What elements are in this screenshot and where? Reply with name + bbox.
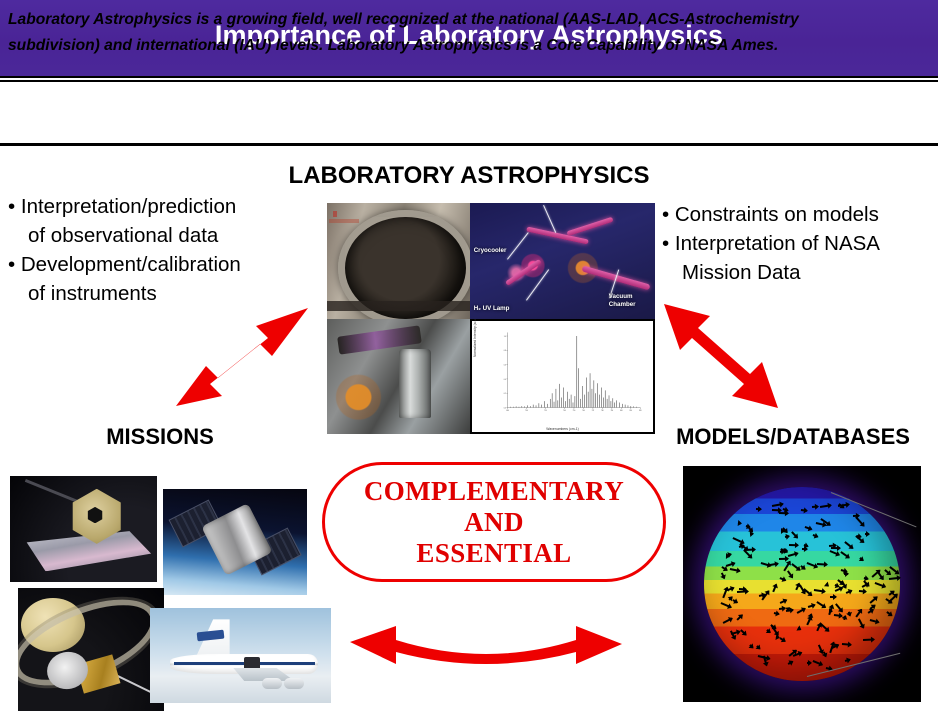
cryocooler-label: Cryocooler — [474, 247, 507, 255]
wind-vector-arrow — [788, 660, 794, 664]
wind-vector-arrow — [780, 637, 786, 642]
wind-vector-arrow — [772, 584, 776, 592]
complementary-essential-callout: COMPLEMENTARY AND ESSENTIAL — [322, 462, 666, 582]
wind-vector-arrow — [818, 644, 823, 653]
wind-vector-arrow — [889, 577, 900, 580]
wind-vector-arrow — [834, 614, 842, 616]
spectrum-chart: Normalized Intensity (a.u.) 0.00.20.40.6… — [470, 319, 655, 434]
wind-vector-arrow — [737, 614, 743, 620]
wind-vector-arrow — [750, 644, 754, 648]
svg-text:780: 780 — [601, 410, 604, 412]
wind-vector-arrow — [728, 587, 734, 591]
list-item: Development/calibration — [8, 250, 324, 279]
spectrum-y-axis-label: Normalized Intensity (a.u.) — [473, 319, 477, 357]
sofia-engine — [262, 678, 282, 688]
cassini-saturn-photo — [18, 588, 164, 711]
wind-vector-arrow — [807, 662, 811, 664]
arrow-lab-to-missions — [160, 296, 325, 416]
wind-vector-arrow — [804, 526, 811, 530]
models-databases-heading: MODELS/DATABASES — [648, 424, 938, 450]
spectrum-svg: 0.00.20.40.60.81.06807007207407507607707… — [501, 329, 642, 416]
wind-vector-arrow — [792, 563, 801, 570]
slide-root: Importance of Laboratory Astrophysics La… — [0, 0, 938, 711]
wind-vector-arrow — [801, 509, 807, 511]
laser-instrument-photo — [327, 319, 470, 434]
list-item: Mission Data — [662, 258, 938, 287]
wind-vector-arrow — [830, 596, 836, 598]
wind-vector-arrow — [782, 528, 787, 533]
svg-text:700: 700 — [525, 410, 528, 412]
wind-vector-arrow — [771, 509, 780, 511]
right-bullet-list: Constraints on models Interpretation of … — [662, 200, 938, 287]
wind-vector-arrow — [844, 573, 848, 575]
cryo-tube — [567, 217, 614, 237]
svg-text:800: 800 — [620, 410, 623, 412]
subtitle-line-2: subdivision) and international (IAU) lev… — [8, 33, 920, 59]
callout-line-1: COMPLEMENTARY — [364, 476, 624, 507]
svg-text:680: 680 — [506, 410, 509, 412]
wind-vector-arrow — [787, 570, 793, 578]
wind-vector-arrow — [792, 531, 798, 538]
svg-text:810: 810 — [630, 410, 633, 412]
wind-vector-arrow — [841, 551, 850, 558]
cryo-tube — [505, 259, 542, 286]
svg-text:0.8: 0.8 — [504, 350, 506, 352]
wind-vector-arrow — [756, 645, 760, 649]
wind-vector-arrow — [741, 630, 747, 636]
wind-vector-arrow — [756, 508, 761, 510]
list-item: Interpretation/prediction — [8, 192, 324, 221]
uv-lamp-label: H₂ UV Lamp — [474, 305, 510, 313]
wind-vector-arrow — [859, 590, 867, 592]
svg-text:760: 760 — [582, 410, 585, 412]
svg-text:750: 750 — [573, 410, 576, 412]
wind-vector-arrow — [853, 515, 859, 517]
wind-vector-arrow — [721, 566, 727, 571]
svg-text:0.0: 0.0 — [504, 407, 506, 409]
wind-vector-arrow — [726, 555, 729, 557]
wind-vector-arrow — [779, 558, 788, 560]
wind-vector-arrow — [812, 660, 822, 665]
svg-text:0.4: 0.4 — [504, 379, 506, 381]
wind-vector-arrow — [800, 565, 805, 569]
wind-vector-arrow — [846, 589, 852, 593]
wind-vector-arrow — [842, 643, 851, 645]
globe-temperature-map — [704, 487, 899, 681]
wind-vector-arrow — [782, 508, 788, 511]
svg-text:770: 770 — [592, 410, 595, 412]
jwst-sunshield — [16, 531, 151, 571]
vacuum-chamber-label: Vacuum Chamber — [609, 293, 636, 308]
wind-vector-arrow — [802, 548, 807, 550]
wind-vector-arrow — [812, 506, 818, 508]
wind-vector-arrow — [779, 577, 786, 581]
wind-vector-arrow — [785, 609, 792, 612]
cryo-lab-photo: Cryocooler H₂ UV Lamp Vacuum Chamber — [470, 203, 655, 319]
svg-text:820: 820 — [639, 410, 642, 412]
wind-vector-arrow — [783, 549, 787, 551]
svg-text:790: 790 — [611, 410, 614, 412]
list-item: Interpretation of NASA — [662, 229, 938, 258]
wind-vector-arrow — [816, 522, 826, 526]
wind-vector-arrow — [845, 659, 851, 662]
svg-text:0.2: 0.2 — [504, 393, 506, 395]
wind-vector-arrow — [739, 544, 744, 547]
callout-text: COMPLEMENTARY AND ESSENTIAL — [364, 476, 624, 569]
svg-text:740: 740 — [563, 410, 566, 412]
sofia-engine — [284, 678, 304, 688]
wind-vector-arrow — [871, 569, 880, 577]
sofia-aircraft-photo — [150, 608, 331, 703]
cryo-leader-line — [507, 232, 529, 259]
wind-vector-arrow — [814, 589, 825, 592]
wind-vector-arrow — [733, 599, 738, 603]
wind-vector-arrow — [766, 630, 770, 633]
wind-vector-arrow — [743, 548, 754, 550]
wind-vector-arrow — [748, 528, 752, 532]
wind-vector-arrow — [817, 601, 827, 608]
wind-vector-arrow — [770, 563, 778, 566]
svg-text:0.6: 0.6 — [504, 364, 506, 366]
wind-vector-arrow — [813, 534, 818, 537]
laser-instrument-image — [327, 319, 470, 434]
wind-vector-arrow — [779, 608, 785, 610]
svg-text:720: 720 — [544, 410, 547, 412]
wind-vector-arrow — [774, 612, 779, 615]
hubble-telescope-photo — [163, 489, 307, 595]
wind-vector-arrow — [780, 600, 787, 604]
lab-image-grid: Cryocooler H₂ UV Lamp Vacuum Chamber Nor… — [327, 203, 655, 434]
lab-astrophysics-heading: LABORATORY ASTROPHYSICS — [0, 162, 938, 190]
wind-vector-arrow — [845, 541, 854, 549]
wind-vector-arrow — [865, 533, 869, 535]
wind-vector-arrow — [722, 573, 726, 579]
svg-text:1.0: 1.0 — [504, 336, 506, 338]
wind-vector-arrow — [835, 603, 843, 612]
wind-vector-arrow — [875, 582, 886, 587]
jwst-telescope-photo — [10, 476, 157, 582]
exoplanet-climate-model-globe — [683, 466, 921, 702]
wind-vector-arrow — [867, 609, 873, 614]
arrow-lab-to-models — [652, 292, 817, 417]
wind-vector-arrow — [820, 504, 831, 507]
left-bullet-list: Interpretation/prediction of observation… — [8, 192, 324, 308]
wind-vector-arrow — [826, 583, 830, 586]
spectrum-plot: Normalized Intensity (a.u.) 0.00.20.40.6… — [470, 319, 655, 434]
wind-vector-arrow — [839, 503, 845, 508]
wind-vector-arrow — [785, 536, 790, 538]
wind-vector-arrow — [859, 558, 863, 561]
subtitle-line-1: Laboratory Astrophysics is a growing fie… — [8, 7, 920, 33]
vacuum-chamber-photo — [327, 203, 470, 319]
cryo-leader-line — [526, 270, 549, 301]
wind-vector-arrow — [817, 563, 827, 565]
wind-vector-arrow — [738, 522, 741, 524]
wind-vector-arrow — [796, 583, 801, 590]
wind-vector-arrow — [829, 550, 839, 556]
wind-vector-arrow — [870, 619, 879, 623]
wind-vector-arrow — [858, 618, 864, 627]
subtitle-text: Laboratory Astrophysics is a growing fie… — [8, 7, 920, 59]
callout-line-2: AND — [364, 507, 624, 538]
wind-vector-arrow — [886, 611, 892, 616]
wind-vector-arrow — [807, 604, 814, 608]
cryo-leader-line — [543, 205, 556, 233]
wind-vector-arrow — [855, 609, 862, 617]
vacuum-chamber-image — [327, 203, 470, 319]
wind-vector-arrow — [797, 608, 806, 614]
list-item: of observational data — [8, 221, 324, 250]
wind-vector-arrow — [863, 639, 874, 641]
wind-vector-arrow — [720, 602, 730, 608]
cryo-lab-image: Cryocooler H₂ UV Lamp Vacuum Chamber — [470, 203, 655, 319]
wind-vector-arrow — [884, 569, 890, 575]
callout-line-3: ESSENTIAL — [364, 538, 624, 569]
list-item: Constraints on models — [662, 200, 938, 229]
arrow-missions-to-models — [344, 612, 628, 700]
wind-vector-arrow — [843, 616, 846, 620]
wind-vector-arrow — [723, 618, 732, 624]
wind-vector-arrow — [797, 628, 801, 631]
wind-vector-arrow — [864, 577, 868, 579]
missions-heading: MISSIONS — [0, 424, 320, 450]
wind-vector-arrow — [789, 544, 798, 546]
wind-vector-arrow — [729, 568, 739, 572]
spectrum-x-axis-label: Wavenumbers (cm-1) — [472, 427, 653, 431]
subtitle-band — [0, 80, 938, 146]
